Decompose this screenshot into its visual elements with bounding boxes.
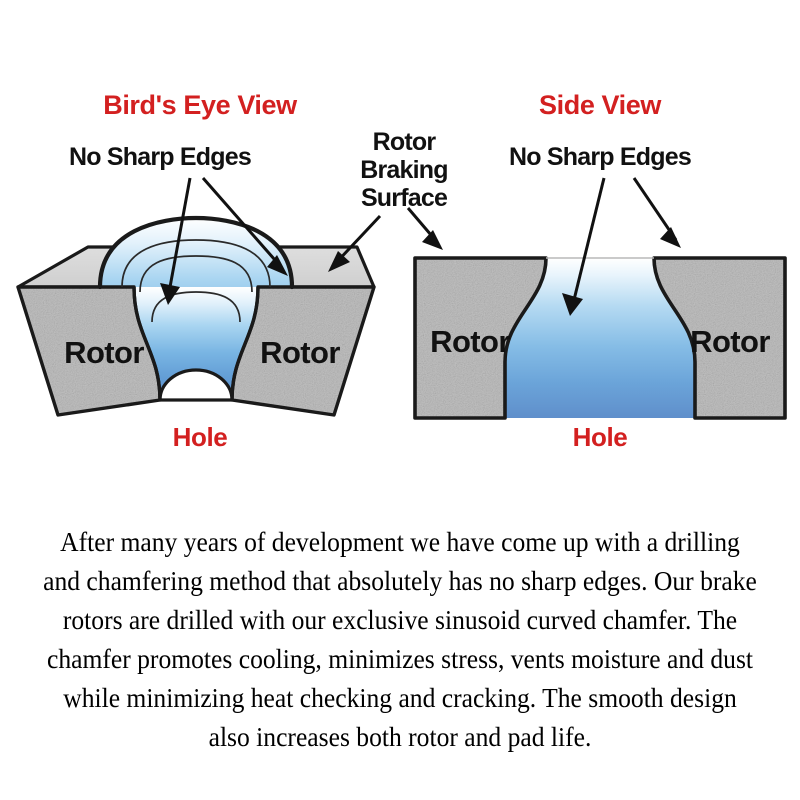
side-view-arrow-right (634, 178, 681, 248)
rotor-braking-surface-label-line-2: Braking (360, 156, 447, 184)
side-view-group: Side View No Sharp Edges Rotor Rotor Hol… (408, 90, 785, 452)
description-paragraph: After many years of development we have … (28, 522, 772, 756)
side-view-title: Side View (539, 90, 662, 120)
body-copy-block: After many years of development we have … (0, 522, 800, 756)
rotor-braking-surface-label-line-3: Surface (361, 184, 448, 212)
diagram-page: Bird's Eye View No Sharp Edges Rotor Bra… (0, 0, 800, 800)
side-view-rotor-label-right: Rotor (690, 324, 770, 359)
side-view-braking-surface-arrow (408, 208, 443, 250)
diagram-area: Bird's Eye View No Sharp Edges Rotor Bra… (0, 0, 800, 500)
bird-eye-hole-label: Hole (173, 422, 228, 452)
rotor-chamfer-illustration: Bird's Eye View No Sharp Edges Rotor Bra… (0, 0, 800, 500)
bird-eye-no-sharp-edges-label: No Sharp Edges (69, 143, 251, 171)
bird-eye-view-title: Bird's Eye View (103, 90, 298, 120)
rotor-braking-surface-label-line-1: Rotor (373, 128, 437, 156)
bird-eye-rotor-label-left: Rotor (64, 335, 144, 370)
bird-eye-rotor-label-right: Rotor (260, 335, 340, 370)
side-view-rotor-label-left: Rotor (430, 324, 510, 359)
bird-eye-view-group: Bird's Eye View No Sharp Edges Rotor Bra… (18, 90, 448, 452)
side-view-hole-label: Hole (573, 422, 628, 452)
side-view-no-sharp-edges-label: No Sharp Edges (509, 143, 691, 171)
